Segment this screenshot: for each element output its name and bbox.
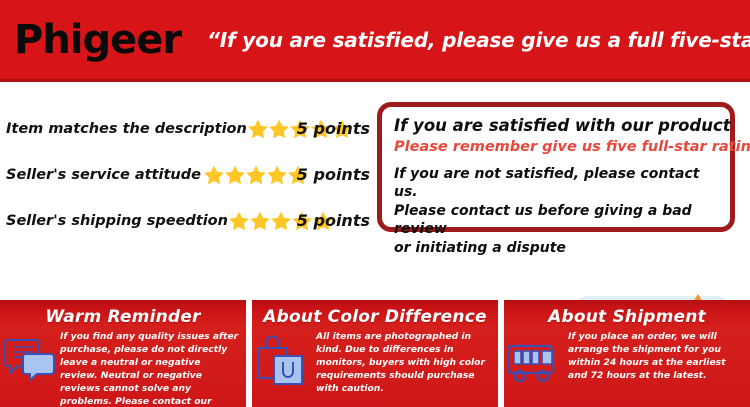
notice-line-4: Please contact us before giving a bad re… bbox=[394, 202, 718, 239]
star-icon bbox=[270, 210, 292, 232]
panel-text: If you find any quality issues after pur… bbox=[60, 330, 240, 407]
notice-line-3: If you are not satisfied, please contact… bbox=[394, 165, 718, 202]
star-icon bbox=[228, 210, 250, 232]
rating-label: Seller's shipping speedtion bbox=[6, 213, 228, 229]
brand-logo: Phigeer bbox=[14, 20, 181, 60]
star-icon bbox=[203, 164, 225, 186]
rating-row: Item matches the description 5 points bbox=[0, 108, 370, 149]
star-icon bbox=[268, 118, 290, 140]
panel-body: If you place an order, we will arrange t… bbox=[504, 327, 750, 391]
main-content: Item matches the description 5 points Se… bbox=[0, 82, 750, 290]
bus-icon bbox=[508, 330, 564, 391]
star-icon bbox=[266, 164, 288, 186]
panel-about-color-difference: About Color Difference All items are pho… bbox=[252, 300, 498, 407]
star-group bbox=[203, 164, 308, 186]
rating-points: 5 points bbox=[297, 119, 370, 138]
rating-points: 5 points bbox=[297, 165, 370, 184]
panel-body: If you find any quality issues after pur… bbox=[0, 327, 246, 407]
satisfaction-notice-box: If you are satisfied with our product Pl… bbox=[377, 102, 735, 232]
rating-points: 5 points bbox=[297, 211, 370, 230]
rating-label: Item matches the description bbox=[6, 121, 247, 137]
panel-text: If you place an order, we will arrange t… bbox=[564, 330, 744, 382]
panel-title: About Color Difference bbox=[252, 300, 498, 327]
star-icon bbox=[245, 164, 267, 186]
rating-row: Seller's service attitude 5 points bbox=[0, 154, 370, 195]
panel-body: All items are photographed in kind. Due … bbox=[252, 327, 498, 395]
panel-text: All items are photographed in kind. Due … bbox=[312, 330, 492, 395]
panel-title: Warm Reminder bbox=[0, 300, 246, 327]
notice-line-2: Please remember give us five full-star r… bbox=[394, 138, 718, 156]
rating-list: Item matches the description 5 points Se… bbox=[0, 108, 370, 246]
promo-banner-page: Phigeer “If you are satisfied, please gi… bbox=[0, 0, 750, 407]
star-icon bbox=[249, 210, 271, 232]
notice-line-1: If you are satisfied with our product bbox=[394, 116, 718, 137]
header-quote: “If you are satisfied, please give us a … bbox=[207, 28, 750, 52]
star-icon bbox=[224, 164, 246, 186]
rating-label: Seller's service attitude bbox=[6, 167, 201, 183]
panel-about-shipment: About Shipment If you place an order, we… bbox=[504, 300, 750, 407]
panel-warm-reminder: Warm Reminder If you find any quality is… bbox=[0, 300, 246, 407]
header-banner: Phigeer “If you are satisfied, please gi… bbox=[0, 0, 750, 82]
rating-row: Seller's shipping speedtion 5 points bbox=[0, 200, 370, 241]
notice-spacer bbox=[394, 156, 718, 165]
panel-title: About Shipment bbox=[504, 300, 750, 327]
shopping-bag-icon bbox=[256, 330, 312, 391]
star-icon bbox=[247, 118, 269, 140]
speech-bubble-icon bbox=[4, 330, 60, 391]
info-panels: Warm Reminder If you find any quality is… bbox=[0, 300, 750, 407]
notice-line-5: or initiating a dispute bbox=[394, 239, 718, 257]
